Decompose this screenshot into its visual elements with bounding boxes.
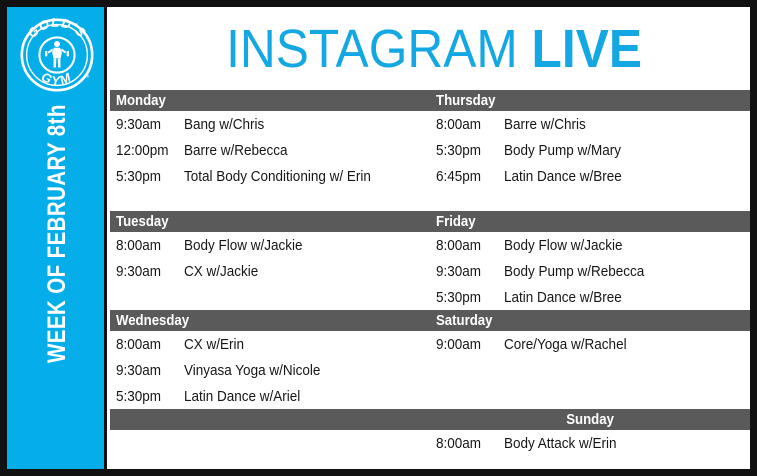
class-time <box>430 388 504 405</box>
day-header-monday: Monday <box>110 90 430 111</box>
class-time: 5:30pm <box>110 388 184 405</box>
schedule-table: Monday Thursday 9:30amBang w/Chris 8:00a… <box>110 90 750 456</box>
day-label: Friday <box>436 211 476 232</box>
day-label: Wednesday <box>116 310 189 331</box>
class-cell: 8:00amBody Flow w/Jackie <box>110 232 430 258</box>
class-time: 8:00am <box>110 336 184 353</box>
brand-sidebar: GOLD'S GYM ® WEE <box>7 7 107 469</box>
day-label: Saturday <box>436 310 492 331</box>
table-row: 8:00amCX w/Erin 9:00amCore/Yoga w/Rachel <box>110 331 750 357</box>
class-name: Barre w/Rebecca <box>184 142 299 159</box>
table-row: 5:30pmLatin Dance w/Bree <box>110 284 750 310</box>
page-title-bold: LIVE <box>532 19 642 79</box>
class-time: 9:30am <box>110 263 184 280</box>
class-time: 5:30pm <box>110 168 184 185</box>
class-cell: 9:00amCore/Yoga w/Rachel <box>430 331 750 357</box>
table-row: 9:30amBang w/Chris 8:00amBarre w/Chris <box>110 111 750 137</box>
class-cell <box>430 357 750 383</box>
spacer-row <box>110 189 750 211</box>
class-cell: 5:30pmBody Pump w/Mary <box>430 137 750 163</box>
table-row: 12:00pmBarre w/Rebecca 5:30pmBody Pump w… <box>110 137 750 163</box>
class-cell: 6:45pmLatin Dance w/Bree <box>430 163 750 189</box>
class-cell <box>110 284 430 310</box>
class-cell: 5:30pmLatin Dance w/Ariel <box>110 383 430 409</box>
day-header-saturday: Saturday <box>430 310 750 331</box>
table-row: 5:30pmLatin Dance w/Ariel <box>110 383 750 409</box>
day-header-sunday: Sunday <box>430 409 750 430</box>
schedule-content: INSTAGRAM LIVE Monday Thursday 9:30amBan… <box>110 7 750 469</box>
class-cell: 9:30amCX w/Jackie <box>110 258 430 284</box>
class-cell: 9:30amBang w/Chris <box>110 111 430 137</box>
day-header-row: Sunday <box>110 409 750 430</box>
table-row: 9:30amVinyasa Yoga w/Nicole <box>110 357 750 383</box>
class-cell: 9:30amVinyasa Yoga w/Nicole <box>110 357 430 383</box>
class-cell: 5:30pmLatin Dance w/Bree <box>430 284 750 310</box>
class-time: 8:00am <box>430 435 504 452</box>
class-name: Body Flow w/Jackie <box>184 237 316 254</box>
class-name: CX w/Jackie <box>184 263 267 280</box>
day-header-row: Tuesday Friday <box>110 211 750 232</box>
schedule-poster: GOLD'S GYM ® WEE <box>0 0 757 476</box>
class-name: CX w/Erin <box>184 336 251 353</box>
day-header-tuesday: Tuesday <box>110 211 430 232</box>
day-header-row: Monday Thursday <box>110 90 750 111</box>
class-name: Barre w/Chris <box>504 116 595 133</box>
class-time: 6:45pm <box>430 168 504 185</box>
day-header-thursday: Thursday <box>430 90 750 111</box>
class-name: Body Pump w/Rebecca <box>504 263 660 280</box>
class-cell: 9:30amBody Pump w/Rebecca <box>430 258 750 284</box>
class-cell: 12:00pmBarre w/Rebecca <box>110 137 430 163</box>
class-cell: 8:00amBarre w/Chris <box>430 111 750 137</box>
table-row: 8:00amBody Flow w/Jackie 8:00amBody Flow… <box>110 232 750 258</box>
day-label: Monday <box>116 90 166 111</box>
class-name: Body Attack w/Erin <box>504 435 629 452</box>
page-title: INSTAGRAM LIVE <box>110 7 750 90</box>
day-header-friday: Friday <box>430 211 750 232</box>
class-cell: 8:00amBody Flow w/Jackie <box>430 232 750 258</box>
class-cell-empty <box>110 430 430 456</box>
class-name: Total Body Conditioning w/ Erin <box>184 168 392 185</box>
day-label: Sunday <box>566 409 614 430</box>
day-label: Thursday <box>436 90 495 111</box>
class-name: Body Pump w/Mary <box>504 142 634 159</box>
page-title-regular: INSTAGRAM <box>226 19 518 79</box>
class-name: Core/Yoga w/Rachel <box>504 336 640 353</box>
class-time <box>110 289 184 306</box>
class-time: 5:30pm <box>430 142 504 159</box>
spacer-cell <box>430 189 750 211</box>
class-time: 8:00am <box>110 237 184 254</box>
table-row: 9:30amCX w/Jackie 9:30amBody Pump w/Rebe… <box>110 258 750 284</box>
day-label: Tuesday <box>116 211 169 232</box>
class-name: Vinyasa Yoga w/Nicole <box>184 362 336 379</box>
class-cell: 8:00amCX w/Erin <box>110 331 430 357</box>
class-time: 9:30am <box>110 116 184 133</box>
class-time: 12:00pm <box>110 142 184 159</box>
class-cell: 8:00amBody Attack w/Erin <box>430 430 750 456</box>
class-time: 9:00am <box>430 336 504 353</box>
day-header-wednesday: Wednesday <box>110 310 430 331</box>
class-name: Body Flow w/Jackie <box>504 237 636 254</box>
class-name: Latin Dance w/Bree <box>504 289 635 306</box>
day-header-row: Wednesday Saturday <box>110 310 750 331</box>
class-name: Latin Dance w/Bree <box>504 168 635 185</box>
day-header-sunday-left-fill <box>110 409 430 430</box>
week-label: WEEK OF FEBRUARY 8th <box>7 7 107 369</box>
table-row: 5:30pmTotal Body Conditioning w/ Erin 6:… <box>110 163 750 189</box>
class-time: 8:00am <box>430 237 504 254</box>
class-cell: 5:30pmTotal Body Conditioning w/ Erin <box>110 163 430 189</box>
spacer-cell <box>110 189 430 211</box>
week-label-text: WEEK OF FEBRUARY 8th <box>43 104 72 363</box>
class-time: 5:30pm <box>430 289 504 306</box>
class-time <box>430 362 504 379</box>
class-name: Latin Dance w/Ariel <box>184 388 313 405</box>
class-time: 9:30am <box>430 263 504 280</box>
class-time: 9:30am <box>110 362 184 379</box>
class-time: 8:00am <box>430 116 504 133</box>
class-name: Bang w/Chris <box>184 116 273 133</box>
class-cell <box>430 383 750 409</box>
table-row: 8:00amBody Attack w/Erin <box>110 430 750 456</box>
